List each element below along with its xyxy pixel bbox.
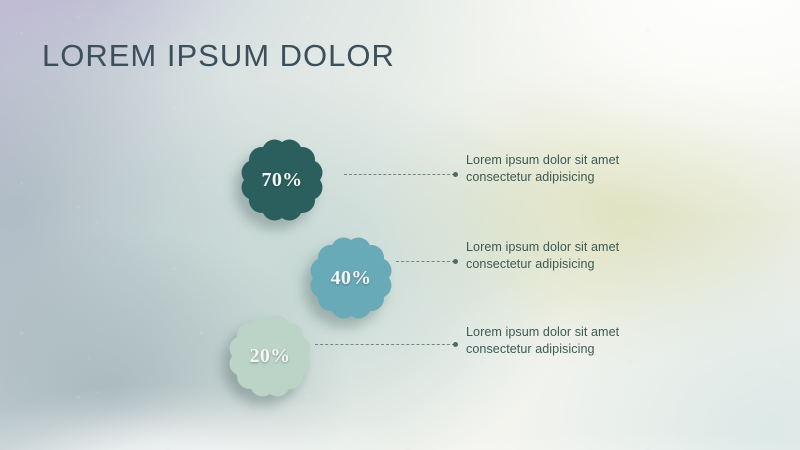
connector-endpoint-dot: [453, 342, 458, 347]
description-line-1: Lorem ipsum dolor sit amet: [466, 152, 696, 169]
percentage-badge[interactable]: 70%: [234, 132, 330, 228]
item-description: Lorem ipsum dolor sit ametconsectetur ad…: [466, 239, 696, 273]
description-line-2: consectetur adipisicing: [466, 256, 696, 273]
description-line-1: Lorem ipsum dolor sit amet: [466, 239, 696, 256]
connector-line: [344, 174, 455, 176]
item-description: Lorem ipsum dolor sit ametconsectetur ad…: [466, 152, 696, 186]
description-line-2: consectetur adipisicing: [466, 341, 696, 358]
connector-line: [396, 261, 455, 263]
description-line-1: Lorem ipsum dolor sit amet: [466, 324, 696, 341]
connector-line: [315, 344, 455, 346]
slide-canvas: LOREM IPSUM DOLOR 70%Lorem ipsum dolor s…: [0, 0, 800, 450]
item-description: Lorem ipsum dolor sit ametconsectetur ad…: [466, 324, 696, 358]
description-line-2: consectetur adipisicing: [466, 169, 696, 186]
percentage-badge[interactable]: 20%: [222, 308, 318, 404]
connector-endpoint-dot: [453, 172, 458, 177]
badge-percentage-label: 70%: [234, 132, 330, 228]
badge-percentage-label: 20%: [222, 308, 318, 404]
connector-endpoint-dot: [453, 259, 458, 264]
page-title: LOREM IPSUM DOLOR: [42, 38, 395, 74]
